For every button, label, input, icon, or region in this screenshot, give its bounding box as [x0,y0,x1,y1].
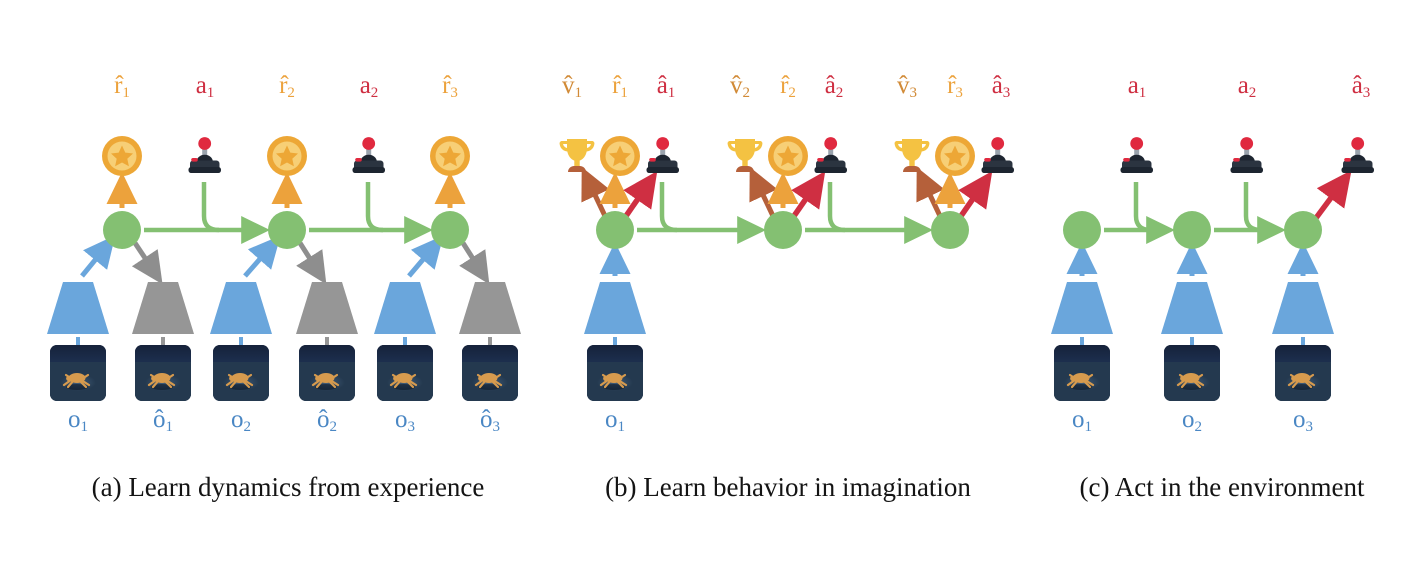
joystick-icon [806,133,856,183]
label-r-hat-2: r̂2 [279,73,295,101]
ant-robot-icon [377,345,433,401]
coin-star-icon [428,134,472,178]
observation-thumbnail [462,345,518,401]
observation-thumbnail [213,345,269,401]
observation-label: ô1 [153,407,173,435]
coin-star-icon [766,134,810,178]
decoder-arrow [135,243,157,276]
action-feed-arrow [1136,182,1151,230]
panel-caption-c: (c) Act in the environment [1080,472,1365,503]
latent-state-node [931,211,969,249]
latent-state-node [1063,211,1101,249]
trophy-icon [889,132,935,178]
joystick-icon [638,133,688,183]
observation-label: ô3 [480,407,500,435]
latent-state-node [103,211,141,249]
encoder-trapezoid-icon [1272,282,1334,334]
encoder-trapezoid-icon [374,282,436,334]
label-a-hat-2: â2 [825,73,844,101]
action-feed-arrow [1246,182,1261,230]
ant-robot-icon [587,345,643,401]
encoder-trapezoid-icon [210,282,272,334]
decoder-trapezoid-icon [132,282,194,334]
value-arrow [754,176,773,216]
observation-thumbnail [1054,345,1110,401]
observation-label: o1 [605,407,625,435]
decoder-arrow [463,243,484,276]
joystick-icon [973,133,1023,183]
ant-robot-icon [135,345,191,401]
observation-thumbnail [587,345,643,401]
panel-caption-a: (a) Learn dynamics from experience [92,472,485,503]
latent-state-node [268,211,306,249]
encoder-trapezoid-icon [584,282,646,334]
ant-robot-icon [462,345,518,401]
action-arrow [1316,179,1345,218]
action-feed-arrow [830,182,845,230]
coin-star-icon [933,134,977,178]
encoder-trapezoid-icon [47,282,109,334]
action-feed-arrow [368,182,383,230]
observation-label: o2 [231,407,251,435]
encoder-arrow [245,243,274,276]
label-a-1: a1 [1128,73,1147,101]
decoder-trapezoid-icon [459,282,521,334]
observation-thumbnail [1275,345,1331,401]
observation-label: o3 [395,407,415,435]
observation-thumbnail [377,345,433,401]
ant-robot-icon [299,345,355,401]
latent-state-node [1284,211,1322,249]
latent-state-node [431,211,469,249]
latent-state-node [1173,211,1211,249]
ant-robot-icon [1275,345,1331,401]
decoder-trapezoid-icon [296,282,358,334]
label-a-2: a2 [1238,73,1257,101]
ant-robot-icon [1054,345,1110,401]
label-r-hat-2: r̂2 [780,73,796,101]
value-arrow [921,176,940,216]
coin-star-icon [265,134,309,178]
observation-label: o1 [1072,407,1092,435]
joystick-icon [1112,133,1162,183]
figure-canvas: r̂1a1r̂2a2r̂3o1ô1o2ô2o3ô3v̂1r̂1â1v̂2… [0,0,1420,562]
panel-caption-b: (b) Learn behavior in imagination [605,472,971,503]
label-a-hat-3: â3 [992,73,1011,101]
ant-robot-icon [50,345,106,401]
label-r-hat-3: r̂3 [947,73,963,101]
observation-label: ô2 [317,407,337,435]
joystick-icon [180,133,230,183]
encoder-trapezoid-icon [1161,282,1223,334]
coin-star-icon [100,134,144,178]
action-arrow [626,180,651,216]
label-v-hat-1: v̂1 [562,73,582,101]
decoder-arrow [300,243,321,276]
observation-label: o3 [1293,407,1313,435]
label-a-hat-3: â3 [1352,73,1371,101]
action-feed-arrow [204,182,219,230]
action-arrow [961,180,986,216]
label-r-hat-1: r̂1 [612,73,628,101]
action-feed-arrow [662,182,677,230]
joystick-icon [344,133,394,183]
label-a-2: a2 [360,73,379,101]
value-arrow [586,176,605,216]
joystick-icon [1333,133,1383,183]
label-r-hat-1: r̂1 [114,73,130,101]
observation-thumbnail [135,345,191,401]
action-arrow [794,180,819,216]
trophy-icon [554,132,600,178]
observation-thumbnail [1164,345,1220,401]
observation-thumbnail [299,345,355,401]
encoder-arrow [82,243,109,276]
ant-robot-icon [1164,345,1220,401]
observation-thumbnail [50,345,106,401]
ant-robot-icon [213,345,269,401]
label-a-hat-1: â1 [657,73,676,101]
observation-label: o1 [68,407,88,435]
label-v-hat-3: v̂3 [897,73,917,101]
latent-state-node [764,211,802,249]
coin-star-icon [598,134,642,178]
encoder-trapezoid-icon [1051,282,1113,334]
latent-state-node [596,211,634,249]
trophy-icon [722,132,768,178]
encoder-arrow [409,243,437,276]
label-r-hat-3: r̂3 [442,73,458,101]
joystick-icon [1222,133,1272,183]
label-a-1: a1 [196,73,215,101]
observation-label: o2 [1182,407,1202,435]
label-v-hat-2: v̂2 [730,73,750,101]
